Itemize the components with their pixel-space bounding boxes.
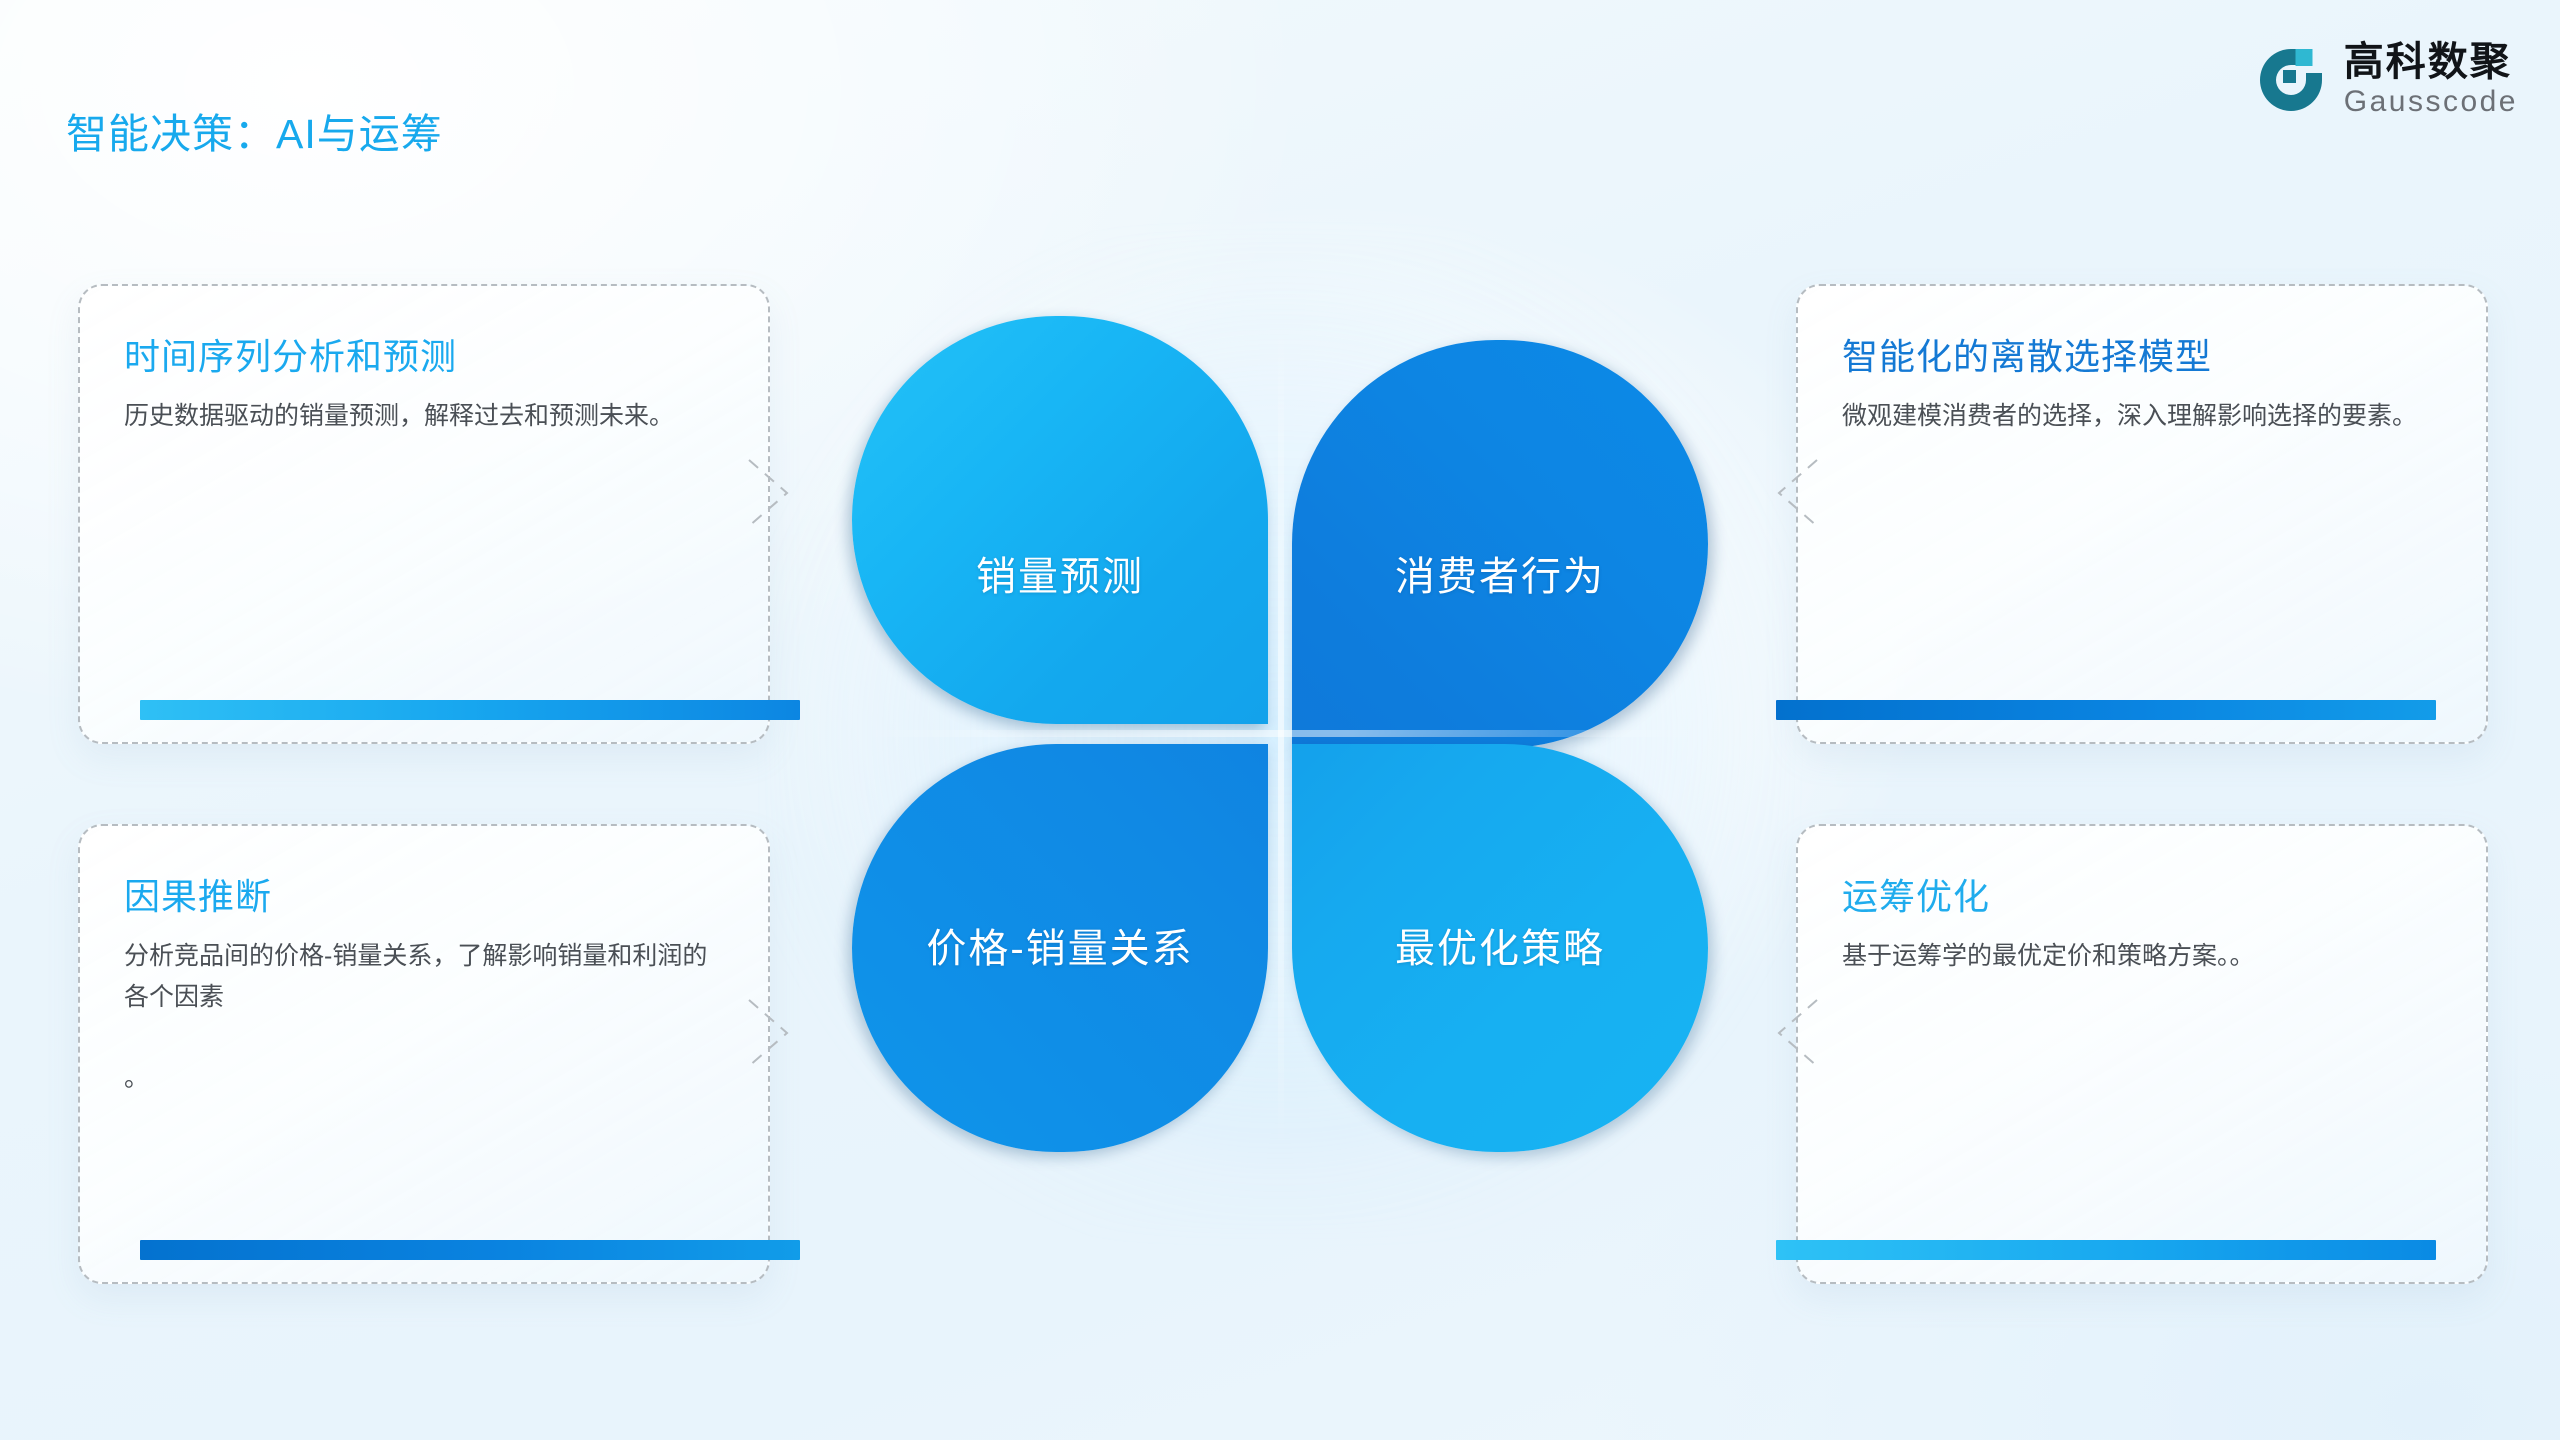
petal-label: 消费者行为 — [1292, 544, 1708, 602]
card-accent-bar — [140, 700, 800, 720]
card-title: 时间序列分析和预测 — [124, 328, 457, 380]
petal-sales-forecast[interactable]: 销量预测 — [852, 316, 1268, 724]
petal-label: 最优化策略 — [1292, 916, 1708, 974]
gausscode-logo-icon — [2254, 43, 2328, 117]
card-accent-bar — [140, 1240, 800, 1260]
connector-arrow-right-icon — [747, 458, 791, 528]
petal-consumer-behavior[interactable]: 消费者行为 — [1292, 340, 1708, 748]
slide-canvas: 智能决策：AI与运筹 高科数聚 Gausscode 销量预测 消费者行为 价格-… — [0, 0, 2560, 1440]
card-body: 微观建模消费者的选择，深入理解影响选择的要素。 — [1842, 396, 2448, 437]
card-body: 历史数据驱动的销量预测，解释过去和预测未来。 — [124, 396, 730, 437]
card-discrete-choice[interactable]: 智能化的离散选择模型 微观建模消费者的选择，深入理解影响选择的要素。 — [1796, 284, 2488, 744]
card-accent-bar — [1776, 700, 2436, 720]
card-causal-inference[interactable]: 因果推断 分析竞品间的价格-销量关系，了解影响销量和利润的各个因素 。 — [78, 824, 770, 1284]
card-title: 运筹优化 — [1842, 868, 1990, 920]
logo-text-en: Gausscode — [2344, 87, 2518, 117]
petal-label: 销量预测 — [852, 544, 1268, 602]
four-petal-diagram: 销量预测 消费者行为 价格-销量关系 最优化策略 — [852, 316, 1708, 1152]
card-body: 基于运筹学的最优定价和策略方案。。 — [1842, 936, 2448, 977]
card-accent-bar — [1776, 1240, 2436, 1260]
petal-price-sales-relation[interactable]: 价格-销量关系 — [852, 744, 1268, 1152]
petal-label: 价格-销量关系 — [852, 916, 1268, 974]
page-title: 智能决策：AI与运筹 — [66, 100, 443, 160]
connector-arrow-right-icon — [747, 998, 791, 1068]
card-operations-research[interactable]: 运筹优化 基于运筹学的最优定价和策略方案。。 — [1796, 824, 2488, 1284]
petal-optimization-strategy[interactable]: 最优化策略 — [1292, 744, 1708, 1152]
connector-arrow-left-icon — [1775, 458, 1819, 528]
card-title: 因果推断 — [124, 868, 272, 920]
card-body: 分析竞品间的价格-销量关系，了解影响销量和利润的各个因素 。 — [124, 936, 730, 1098]
brand-logo: 高科数聚 Gausscode — [2254, 42, 2518, 117]
card-time-series[interactable]: 时间序列分析和预测 历史数据驱动的销量预测，解释过去和预测未来。 — [78, 284, 770, 744]
card-title: 智能化的离散选择模型 — [1842, 328, 2212, 380]
connector-arrow-left-icon — [1775, 998, 1819, 1068]
logo-text-cn: 高科数聚 — [2344, 42, 2518, 82]
